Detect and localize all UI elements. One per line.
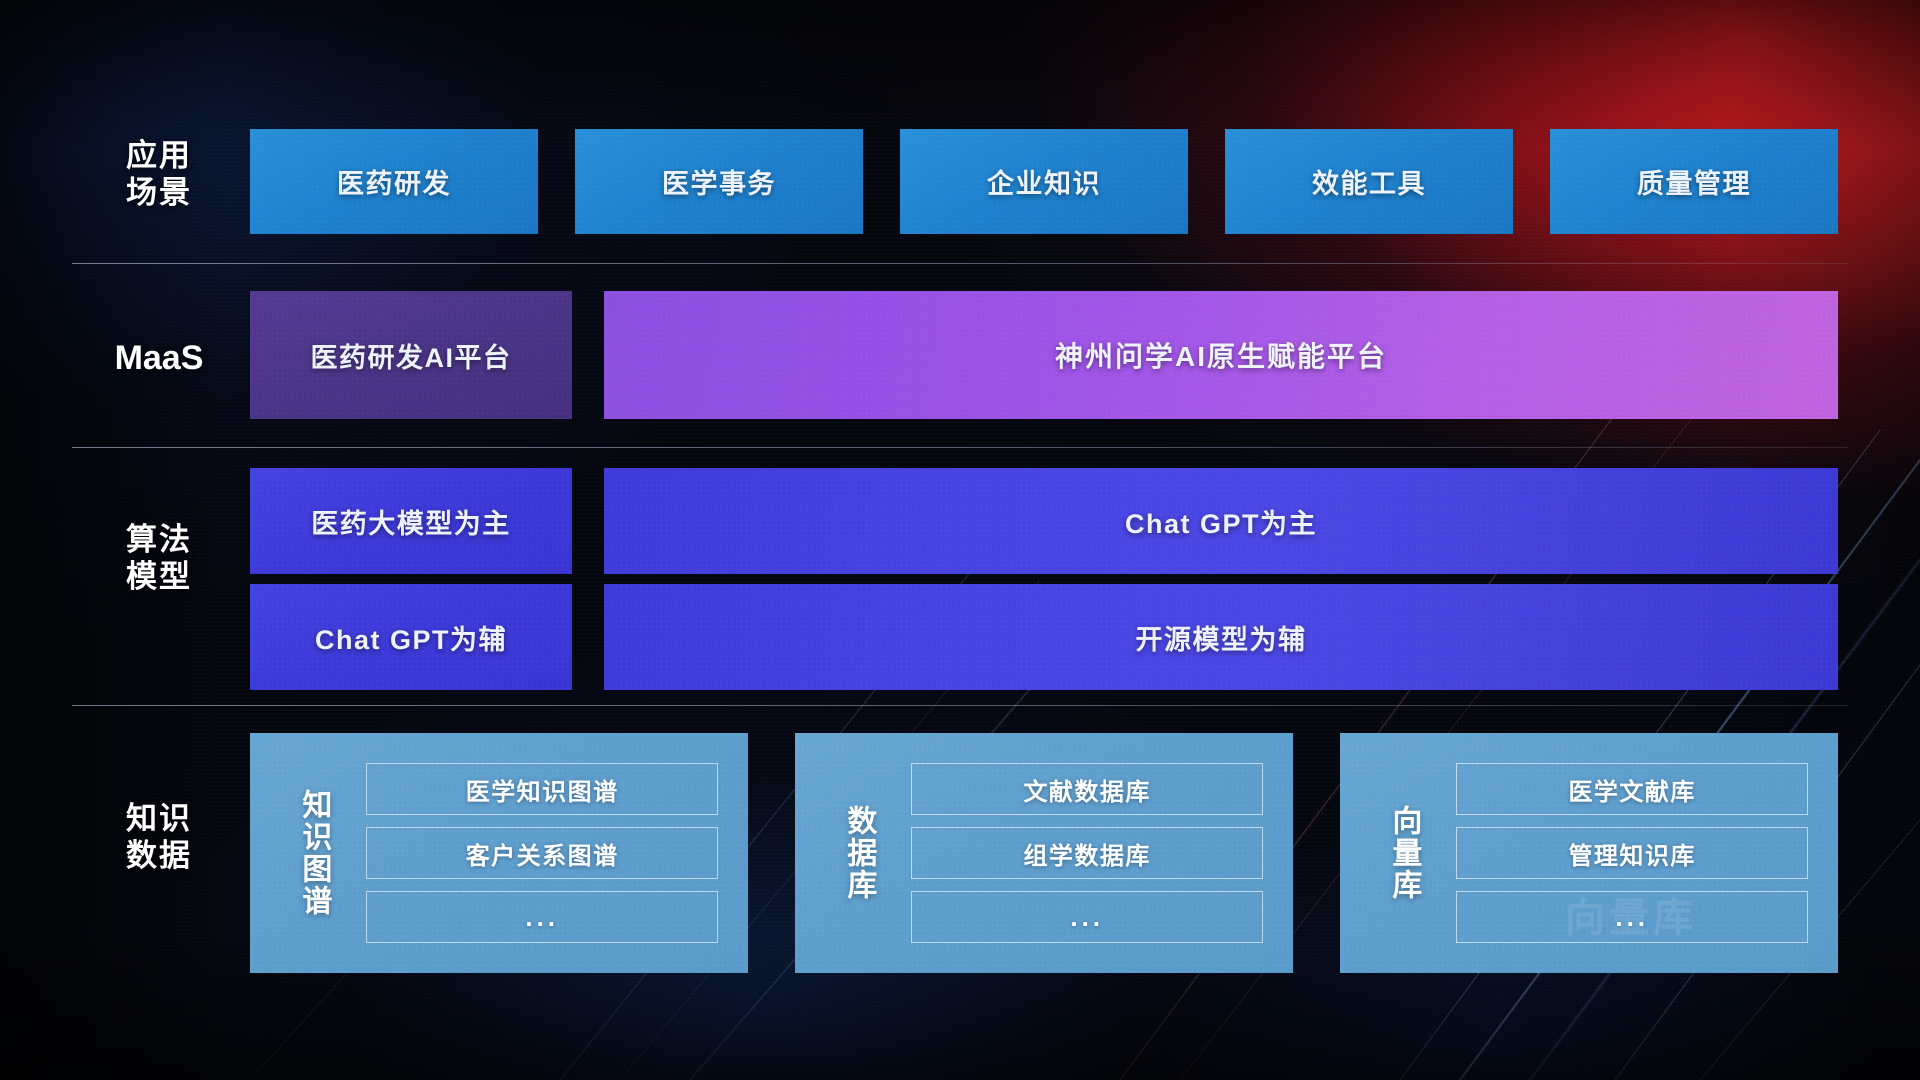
algo-card-label: 医药大模型为主: [311, 502, 511, 541]
app-card-quality-management[interactable]: 质量管理: [1550, 129, 1838, 234]
algo-card-label: Chat GPT为辅: [315, 618, 507, 657]
divider-algorithm-knowledge: [72, 705, 1848, 706]
knowledge-item-more[interactable]: ...: [1456, 891, 1808, 943]
diagram-grid: 应用 场景 医药研发 医学事务 企业知识 效能工具 质量管理 MaaS 医药研发…: [0, 0, 1920, 1080]
app-card-label: 医学事务: [662, 162, 776, 201]
knowledge-item[interactable]: 文献数据库: [911, 763, 1263, 815]
maas-card-label: 神州问学AI原生赋能平台: [1055, 335, 1387, 375]
app-card-label: 质量管理: [1637, 162, 1751, 201]
knowledge-panel-database[interactable]: 数据库 文献数据库 组学数据库 ...: [795, 733, 1293, 973]
knowledge-item[interactable]: 医学文献库: [1456, 763, 1808, 815]
app-card-medical-affairs[interactable]: 医学事务: [575, 129, 863, 234]
knowledge-panel-title: 知识图谱: [294, 789, 332, 917]
algo-card-label: 开源模型为辅: [1136, 618, 1307, 657]
app-card-label: 效能工具: [1312, 162, 1426, 201]
algo-card-label: Chat GPT为主: [1125, 502, 1317, 541]
algo-card-pharma-llm-primary[interactable]: 医药大模型为主: [250, 468, 572, 574]
divider-maas-algorithm: [72, 447, 1848, 448]
row-label-algorithm: 算法 模型: [84, 521, 234, 595]
row-label-knowledge: 知识 数据: [84, 800, 234, 874]
app-card-label: 企业知识: [987, 162, 1101, 201]
divider-application-maas: [72, 263, 1848, 264]
knowledge-panel-title: 数据库: [839, 805, 877, 901]
app-card-label: 医药研发: [337, 162, 451, 201]
app-card-efficiency-tools[interactable]: 效能工具: [1225, 129, 1513, 234]
knowledge-panel-title: 向量库: [1384, 805, 1422, 901]
knowledge-panel-item-list: 文献数据库 组学数据库 ...: [911, 763, 1293, 943]
algo-card-open-source-secondary[interactable]: 开源模型为辅: [604, 584, 1838, 690]
knowledge-item[interactable]: 管理知识库: [1456, 827, 1808, 879]
knowledge-panel-item-list: 医学文献库 管理知识库 ...: [1456, 763, 1838, 943]
knowledge-panel-vector-store[interactable]: 向量库 医学文献库 管理知识库 ...: [1340, 733, 1838, 973]
algo-card-chatgpt-secondary[interactable]: Chat GPT为辅: [250, 584, 572, 690]
knowledge-item[interactable]: 医学知识图谱: [366, 763, 718, 815]
row-label-maas: MaaS: [84, 338, 234, 379]
row-label-application: 应用 场景: [84, 137, 234, 211]
maas-card-shenzhou-wenxue-platform[interactable]: 神州问学AI原生赋能平台: [604, 291, 1838, 419]
knowledge-item-more[interactable]: ...: [366, 891, 718, 943]
app-card-drug-rd[interactable]: 医药研发: [250, 129, 538, 234]
app-card-enterprise-knowledge[interactable]: 企业知识: [900, 129, 1188, 234]
knowledge-panel-knowledge-graph[interactable]: 知识图谱 医学知识图谱 客户关系图谱 ...: [250, 733, 748, 973]
algo-card-chatgpt-primary[interactable]: Chat GPT为主: [604, 468, 1838, 574]
maas-card-drug-rd-ai-platform[interactable]: 医药研发AI平台: [250, 291, 572, 419]
architecture-diagram-stage: 应用 场景 医药研发 医学事务 企业知识 效能工具 质量管理 MaaS 医药研发…: [0, 0, 1920, 1080]
knowledge-panel-item-list: 医学知识图谱 客户关系图谱 ...: [366, 763, 748, 943]
maas-card-label: 医药研发AI平台: [311, 336, 512, 375]
knowledge-item[interactable]: 组学数据库: [911, 827, 1263, 879]
knowledge-item[interactable]: 客户关系图谱: [366, 827, 718, 879]
knowledge-item-more[interactable]: ...: [911, 891, 1263, 943]
